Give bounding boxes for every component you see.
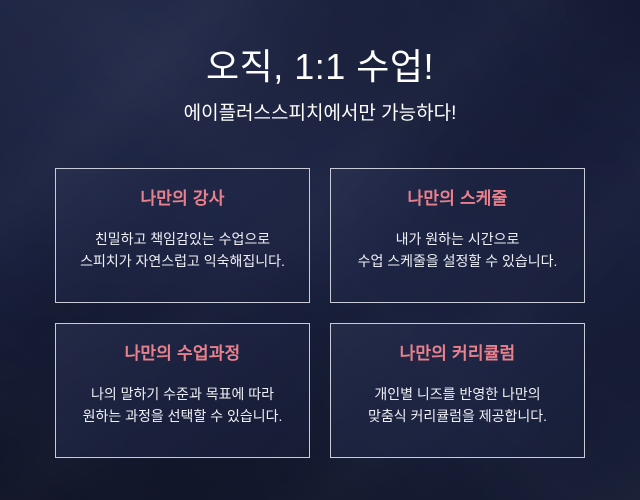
page-title: 오직, 1:1 수업! [0, 45, 640, 89]
feature-card-grid: 나만의 강사 친밀하고 책임감있는 수업으로 스피치가 자연스럽고 익숙해집니다… [55, 168, 585, 458]
card-body-line: 내가 원하는 시간으로 [331, 228, 584, 250]
card-body-line: 수업 스케줄을 설정할 수 있습니다. [331, 250, 584, 272]
card-inner: 나만의 강사 친밀하고 책임감있는 수업으로 스피치가 자연스럽고 익숙해집니다… [56, 169, 309, 272]
card-body: 나의 말하기 수준과 목표에 따라 원하는 과정을 선택할 수 있습니다. [56, 383, 309, 427]
card-inner: 나만의 수업과정 나의 말하기 수준과 목표에 따라 원하는 과정을 선택할 수… [56, 324, 309, 427]
card-body-line: 스피치가 자연스럽고 익숙해집니다. [56, 250, 309, 272]
card-title: 나만의 강사 [56, 188, 309, 210]
promo-banner: 오직, 1:1 수업! 에이플러스스피치에서만 가능하다! 나만의 강사 친밀하… [0, 0, 640, 500]
feature-card-instructor[interactable]: 나만의 강사 친밀하고 책임감있는 수업으로 스피치가 자연스럽고 익숙해집니다… [55, 168, 310, 303]
feature-card-schedule[interactable]: 나만의 스케줄 내가 원하는 시간으로 수업 스케줄을 설정할 수 있습니다. [330, 168, 585, 303]
card-body-line: 원하는 과정을 선택할 수 있습니다. [56, 405, 309, 427]
card-inner: 나만의 스케줄 내가 원하는 시간으로 수업 스케줄을 설정할 수 있습니다. [331, 169, 584, 272]
card-title: 나만의 스케줄 [331, 188, 584, 210]
feature-card-course[interactable]: 나만의 수업과정 나의 말하기 수준과 목표에 따라 원하는 과정을 선택할 수… [55, 323, 310, 458]
feature-card-curriculum[interactable]: 나만의 커리큘럼 개인별 니즈를 반영한 나만의 맞춤식 커리큘럼을 제공합니다… [330, 323, 585, 458]
card-body-line: 개인별 니즈를 반영한 나만의 [331, 383, 584, 405]
card-inner: 나만의 커리큘럼 개인별 니즈를 반영한 나만의 맞춤식 커리큘럼을 제공합니다… [331, 324, 584, 427]
card-body: 친밀하고 책임감있는 수업으로 스피치가 자연스럽고 익숙해집니다. [56, 228, 309, 272]
banner-content: 오직, 1:1 수업! 에이플러스스피치에서만 가능하다! 나만의 강사 친밀하… [0, 0, 640, 500]
card-body-line: 맞춤식 커리큘럼을 제공합니다. [331, 405, 584, 427]
card-body-line: 친밀하고 책임감있는 수업으로 [56, 228, 309, 250]
page-subtitle: 에이플러스스피치에서만 가능하다! [0, 101, 640, 127]
card-body: 개인별 니즈를 반영한 나만의 맞춤식 커리큘럼을 제공합니다. [331, 383, 584, 427]
card-title: 나만의 수업과정 [56, 343, 309, 365]
card-body-line: 나의 말하기 수준과 목표에 따라 [56, 383, 309, 405]
card-title: 나만의 커리큘럼 [331, 343, 584, 365]
card-body: 내가 원하는 시간으로 수업 스케줄을 설정할 수 있습니다. [331, 228, 584, 272]
